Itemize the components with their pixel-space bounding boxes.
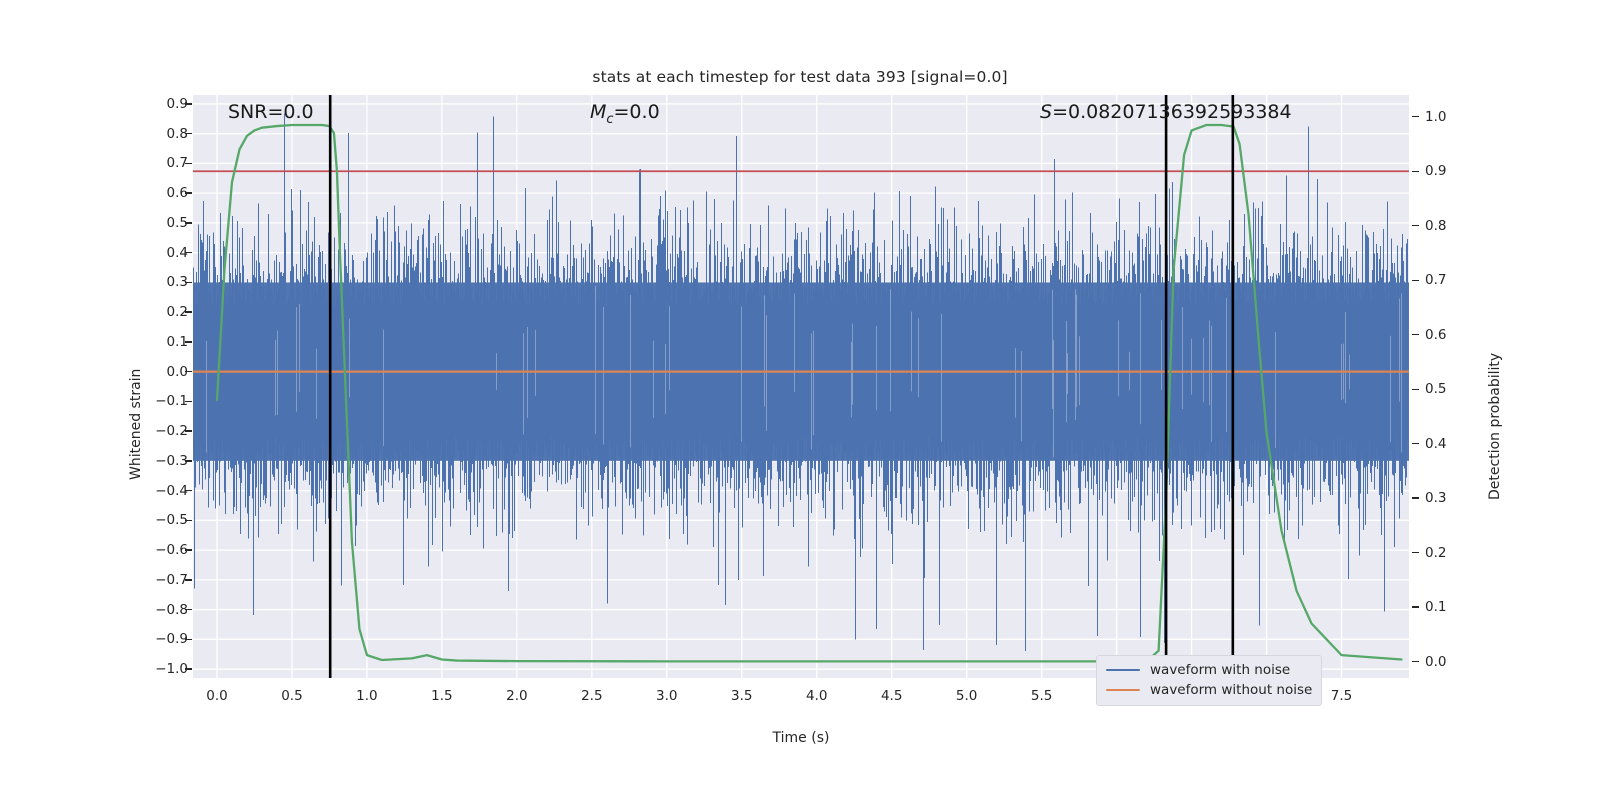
y-tick-mark-right — [1412, 334, 1419, 335]
y-tick-mark-left — [185, 430, 192, 431]
y-tick-label-right: 0.3 — [1425, 490, 1485, 506]
y-tick-mark-left — [185, 579, 192, 580]
y-tick-label-left: 0.9 — [128, 96, 188, 112]
y-tick-mark-left — [185, 163, 192, 164]
y-tick-mark-right — [1412, 606, 1419, 607]
y-tick-label-left: −0.4 — [128, 483, 188, 499]
y-tick-label-right: 0.4 — [1425, 436, 1485, 452]
y-tick-label-right: 0.5 — [1425, 381, 1485, 397]
y-tick-label-right: 0.8 — [1425, 218, 1485, 234]
y-axis-label-right: Detection probability — [1487, 353, 1503, 500]
y-tick-mark-right — [1412, 497, 1419, 498]
x-tick-label: 0.5 — [262, 688, 322, 704]
y-tick-mark-right — [1412, 661, 1419, 662]
y-tick-mark-left — [185, 401, 192, 402]
y-tick-label-right: 1.0 — [1425, 109, 1485, 125]
y-tick-mark-left — [185, 282, 192, 283]
annotation-s-symbol: S — [1040, 101, 1052, 123]
y-tick-label-left: 0.7 — [128, 155, 188, 171]
y-tick-mark-left — [185, 520, 192, 521]
x-tick-label: 5.0 — [937, 688, 997, 704]
x-tick-label: 0.0 — [187, 688, 247, 704]
y-tick-label-left: −0.9 — [128, 631, 188, 647]
y-tick-mark-right — [1412, 443, 1419, 444]
y-tick-mark-left — [185, 371, 192, 372]
y-tick-label-left: 0.6 — [128, 185, 188, 201]
y-tick-label-right: 0.6 — [1425, 327, 1485, 343]
x-tick-label: 5.5 — [1012, 688, 1072, 704]
x-tick-label: 1.0 — [337, 688, 397, 704]
legend-color-swatch-orange — [1106, 689, 1140, 691]
y-tick-label-left: 0.5 — [128, 215, 188, 231]
matplotlib-figure: stats at each timestep for test data 393… — [0, 0, 1600, 800]
annotation-s-value: =0.08207136392593384 — [1052, 101, 1292, 123]
x-tick-label: 1.5 — [412, 688, 472, 704]
y-tick-label-left: −0.6 — [128, 542, 188, 558]
annotation-snr: SNR=0.0 — [228, 101, 314, 123]
y-tick-label-right: 0.7 — [1425, 272, 1485, 288]
annotation-chirp-mass: Mc=0.0 — [590, 101, 660, 127]
y-tick-label-right: 0.2 — [1425, 545, 1485, 561]
y-tick-label-left: −0.7 — [128, 572, 188, 588]
y-tick-label-left: 0.3 — [128, 274, 188, 290]
y-tick-mark-left — [185, 460, 192, 461]
y-axis-label-left: Whitened strain — [128, 369, 144, 480]
y-tick-mark-right — [1412, 116, 1419, 117]
y-tick-mark-left — [185, 311, 192, 312]
y-tick-mark-right — [1412, 225, 1419, 226]
plot-canvas — [193, 95, 1409, 678]
y-tick-label-left: −1.0 — [128, 661, 188, 677]
y-tick-label-left: −0.8 — [128, 602, 188, 618]
y-tick-mark-left — [185, 490, 192, 491]
annotation-mc-symbol: M — [590, 101, 606, 123]
legend-color-swatch-blue — [1106, 669, 1140, 671]
y-tick-label-left: 0.1 — [128, 334, 188, 350]
chart-legend: waveform with noise waveform without noi… — [1096, 655, 1322, 706]
x-tick-label: 2.5 — [562, 688, 622, 704]
y-tick-mark-left — [185, 549, 192, 550]
y-tick-label-left: 0.4 — [128, 245, 188, 261]
plot-area — [193, 95, 1409, 678]
legend-item-waveform-with-noise[interactable]: waveform with noise — [1106, 660, 1312, 680]
chart-title: stats at each timestep for test data 393… — [0, 68, 1600, 86]
x-tick-label: 3.5 — [712, 688, 772, 704]
legend-label-0: waveform with noise — [1150, 662, 1290, 678]
y-tick-mark-left — [185, 133, 192, 134]
annotation-mc-subscript: c — [606, 112, 613, 127]
y-tick-mark-left — [185, 668, 192, 669]
legend-label-1: waveform without noise — [1150, 682, 1312, 698]
y-tick-label-right: 0.1 — [1425, 599, 1485, 615]
y-tick-mark-left — [185, 609, 192, 610]
legend-item-waveform-without-noise[interactable]: waveform without noise — [1106, 680, 1312, 700]
x-tick-label: 2.0 — [487, 688, 547, 704]
x-tick-label: 4.0 — [787, 688, 847, 704]
y-tick-mark-left — [185, 222, 192, 223]
y-tick-mark-left — [185, 341, 192, 342]
x-tick-label: 4.5 — [862, 688, 922, 704]
y-tick-mark-left — [185, 252, 192, 253]
y-tick-label-left: −0.5 — [128, 512, 188, 528]
y-tick-mark-left — [185, 103, 192, 104]
y-tick-mark-right — [1412, 389, 1419, 390]
y-tick-mark-right — [1412, 552, 1419, 553]
x-axis-label: Time (s) — [193, 730, 1409, 746]
x-tick-label: 3.0 — [637, 688, 697, 704]
y-tick-label-left: 0.8 — [128, 126, 188, 142]
y-tick-mark-left — [185, 639, 192, 640]
y-tick-label-right: 0.9 — [1425, 163, 1485, 179]
y-tick-mark-right — [1412, 280, 1419, 281]
y-tick-mark-left — [185, 192, 192, 193]
y-tick-label-left: 0.2 — [128, 304, 188, 320]
y-tick-label-right: 0.0 — [1425, 654, 1485, 670]
annotation-statistic: S=0.08207136392593384 — [1040, 101, 1292, 123]
y-tick-mark-right — [1412, 171, 1419, 172]
annotation-mc-value: =0.0 — [614, 101, 660, 123]
